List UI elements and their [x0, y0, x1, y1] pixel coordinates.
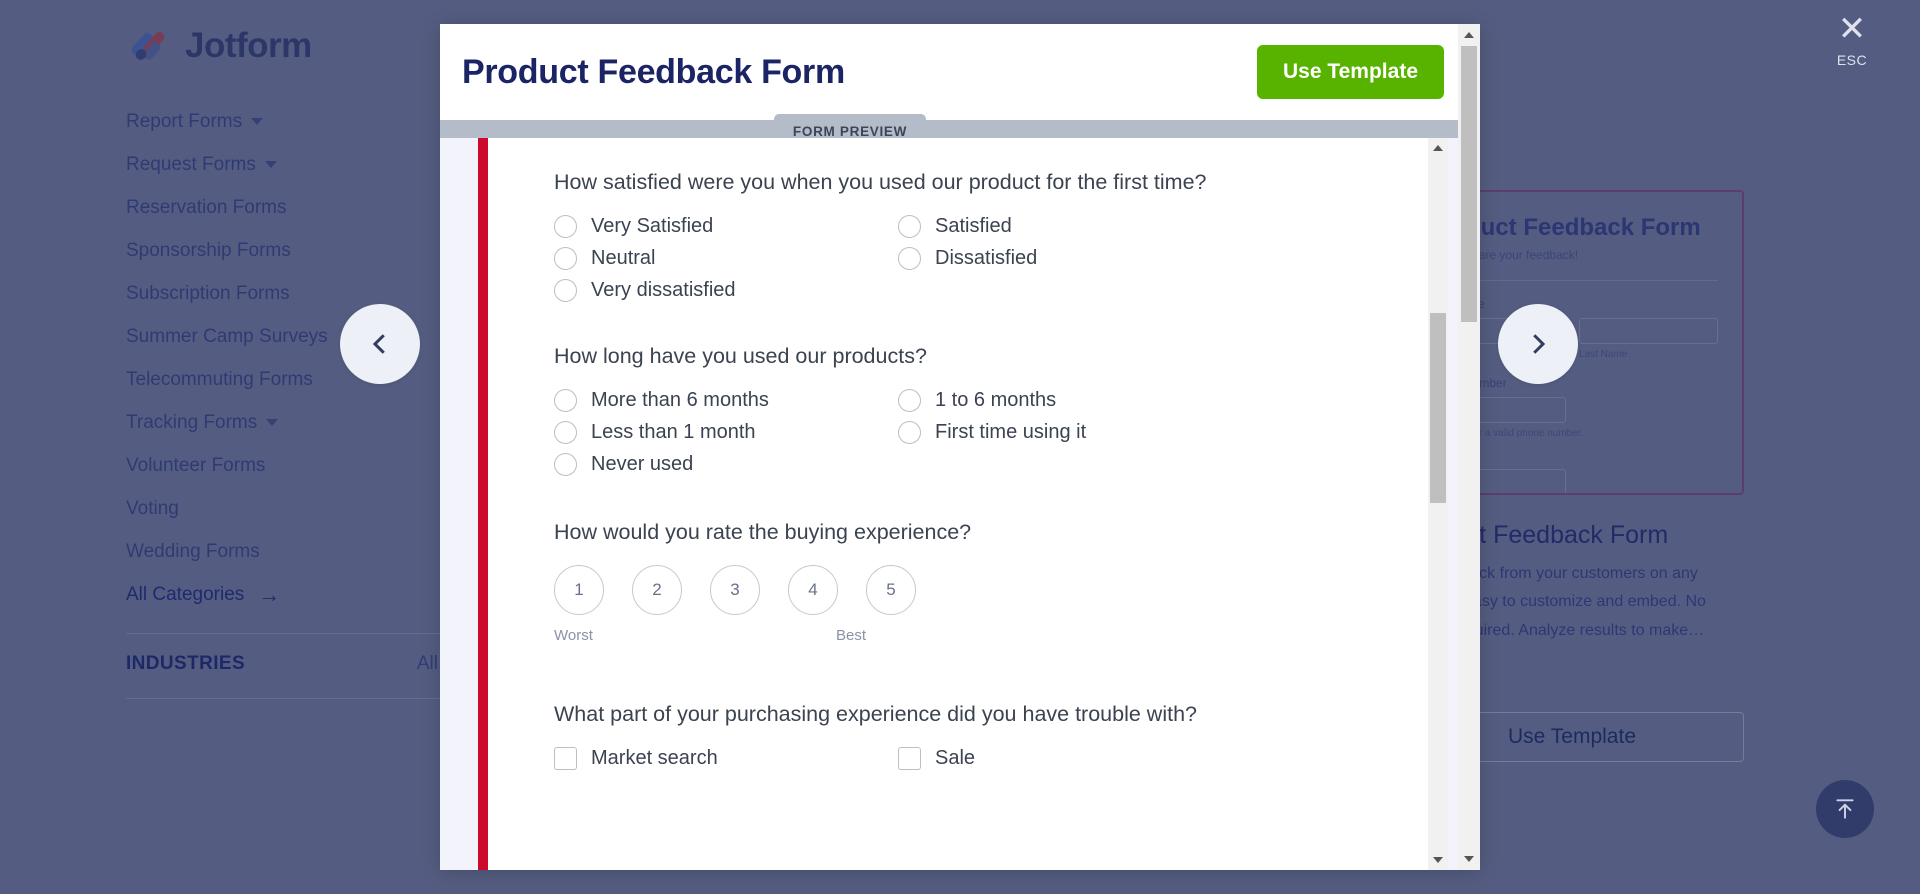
checkbox-option[interactable]: Sale — [898, 747, 1448, 770]
jotform-mark-icon — [134, 29, 172, 63]
industries-title: INDUSTRIES — [126, 653, 245, 675]
radio-option[interactable]: Never used — [554, 453, 898, 476]
close-modal-button[interactable]: ✕ ESC — [1816, 12, 1888, 68]
sidebar-item-label: Volunteer Forms — [126, 455, 265, 477]
question-title: What part of your purchasing experience … — [554, 702, 1448, 727]
modal-scroll-down-arrow-icon[interactable] — [1458, 848, 1480, 870]
checkbox-icon[interactable] — [898, 747, 921, 770]
rating-option-3[interactable]: 3 — [710, 565, 760, 615]
radio-icon[interactable] — [898, 421, 921, 444]
industries-filter[interactable]: INDUSTRIES All — [126, 634, 466, 694]
question-buying-rating: How would you rate the buying experience… — [554, 520, 1448, 644]
scroll-down-arrow-icon[interactable] — [1428, 850, 1448, 870]
option-label: Less than 1 month — [591, 421, 756, 444]
option-label: Sale — [935, 747, 975, 770]
radio-icon[interactable] — [898, 389, 921, 412]
form-preview-area: How satisfied were you when you used our… — [440, 138, 1480, 870]
close-icon: ✕ — [1838, 12, 1867, 46]
rating-option-1[interactable]: 1 — [554, 565, 604, 615]
radio-option[interactable]: More than 6 months — [554, 389, 898, 412]
next-template-button[interactable] — [1498, 304, 1578, 384]
form-preview-scroll-thumb[interactable] — [1430, 313, 1446, 503]
thumb-last-name-label: Last Name — [1579, 349, 1718, 360]
modal-scroll-up-arrow-icon[interactable] — [1458, 24, 1480, 46]
industries-value: All — [417, 653, 438, 675]
option-label: Satisfied — [935, 215, 1012, 238]
option-label: Dissatisfied — [935, 247, 1037, 270]
checkbox-option[interactable]: Market search — [554, 747, 898, 770]
previous-template-button[interactable] — [340, 304, 420, 384]
radio-option[interactable]: First time using it — [898, 421, 1448, 444]
chevron-down-icon — [266, 419, 278, 426]
radio-icon[interactable] — [898, 247, 921, 270]
modal-scroll-thumb[interactable] — [1461, 46, 1477, 322]
radio-icon[interactable] — [554, 389, 577, 412]
jotform-logo[interactable]: Jotform — [134, 26, 312, 66]
form-body: How satisfied were you when you used our… — [488, 138, 1448, 770]
option-group: Very Satisfied Satisfied Neutral Dissati… — [554, 215, 1448, 302]
rating-option-2[interactable]: 2 — [632, 565, 682, 615]
radio-icon[interactable] — [554, 421, 577, 444]
sidebar-item-label: Tracking Forms — [126, 412, 257, 434]
tab-strip: FORM PREVIEW — [440, 120, 1480, 138]
sidebar-item-label: Reservation Forms — [126, 197, 287, 219]
radio-option[interactable]: Neutral — [554, 247, 898, 270]
radio-option[interactable]: Very Satisfied — [554, 215, 898, 238]
radio-icon[interactable] — [554, 215, 577, 238]
radio-icon[interactable] — [554, 279, 577, 302]
radio-option[interactable]: Satisfied — [898, 215, 1448, 238]
option-label: First time using it — [935, 421, 1086, 444]
esc-label: ESC — [1837, 52, 1867, 68]
question-title: How satisfied were you when you used our… — [554, 170, 1448, 195]
radio-option[interactable]: 1 to 6 months — [898, 389, 1448, 412]
sidebar-item-label: Voting — [126, 498, 179, 520]
rating-scale: 1 2 3 4 5 — [554, 565, 1448, 615]
radio-option[interactable]: Very dissatisfied — [554, 279, 898, 302]
sidebar-item-label: Subscription Forms — [126, 283, 290, 305]
radio-icon[interactable] — [554, 247, 577, 270]
radio-icon[interactable] — [898, 215, 921, 238]
chevron-left-icon — [365, 329, 395, 359]
question-duration: How long have you used our products? Mor… — [554, 344, 1448, 476]
sidebar-item-label: Telecommuting Forms — [126, 369, 313, 391]
option-label: Very Satisfied — [591, 215, 713, 238]
checkbox-icon[interactable] — [554, 747, 577, 770]
rating-option-4[interactable]: 4 — [788, 565, 838, 615]
sidebar-item-label: Report Forms — [126, 111, 242, 133]
option-group: More than 6 months 1 to 6 months Less th… — [554, 389, 1448, 476]
radio-option[interactable]: Dissatisfied — [898, 247, 1448, 270]
rating-endpoint-labels: Worst Best — [554, 627, 866, 644]
thumb-last-name-input — [1579, 318, 1718, 344]
sidebar-item-label: Request Forms — [126, 154, 256, 176]
modal-scrollbar[interactable] — [1458, 24, 1480, 870]
option-label: More than 6 months — [591, 389, 769, 412]
use-template-button[interactable]: Use Template — [1257, 45, 1444, 99]
chevron-right-icon — [1523, 329, 1553, 359]
option-group: Market search Sale — [554, 747, 1448, 770]
question-satisfaction: How satisfied were you when you used our… — [554, 170, 1448, 302]
scroll-to-top-button[interactable] — [1816, 780, 1874, 838]
template-preview-modal: Product Feedback Form Use Template FORM … — [440, 24, 1480, 870]
radio-icon[interactable] — [554, 453, 577, 476]
jotform-wordmark: Jotform — [185, 26, 312, 66]
option-label: Very dissatisfied — [591, 279, 736, 302]
chevron-down-icon — [265, 161, 277, 168]
question-title: How long have you used our products? — [554, 344, 1448, 369]
form-preview-scrollbar[interactable] — [1428, 138, 1448, 870]
question-title: How would you rate the buying experience… — [554, 520, 1448, 545]
arrow-right-icon: → — [258, 584, 280, 606]
modal-header: Product Feedback Form Use Template — [440, 24, 1480, 120]
option-label: Neutral — [591, 247, 655, 270]
form-canvas: How satisfied were you when you used our… — [478, 138, 1448, 870]
sidebar-item-label: Wedding Forms — [126, 541, 260, 563]
page-title: Product Feedback Form — [462, 53, 845, 92]
option-label: Never used — [591, 453, 693, 476]
rating-high-label: Best — [836, 627, 866, 644]
sidebar-item-label: Sponsorship Forms — [126, 240, 291, 262]
question-trouble: What part of your purchasing experience … — [554, 702, 1448, 770]
rating-low-label: Worst — [554, 627, 593, 644]
chevron-down-icon — [251, 118, 263, 125]
scroll-up-arrow-icon[interactable] — [1428, 138, 1448, 158]
rating-option-5[interactable]: 5 — [866, 565, 916, 615]
arrow-up-line-icon — [1832, 796, 1858, 822]
option-label: Market search — [591, 747, 718, 770]
radio-option[interactable]: Less than 1 month — [554, 421, 898, 444]
all-categories-label: All Categories — [126, 584, 244, 606]
option-label: 1 to 6 months — [935, 389, 1056, 412]
sidebar-item-label: Summer Camp Surveys — [126, 326, 328, 348]
